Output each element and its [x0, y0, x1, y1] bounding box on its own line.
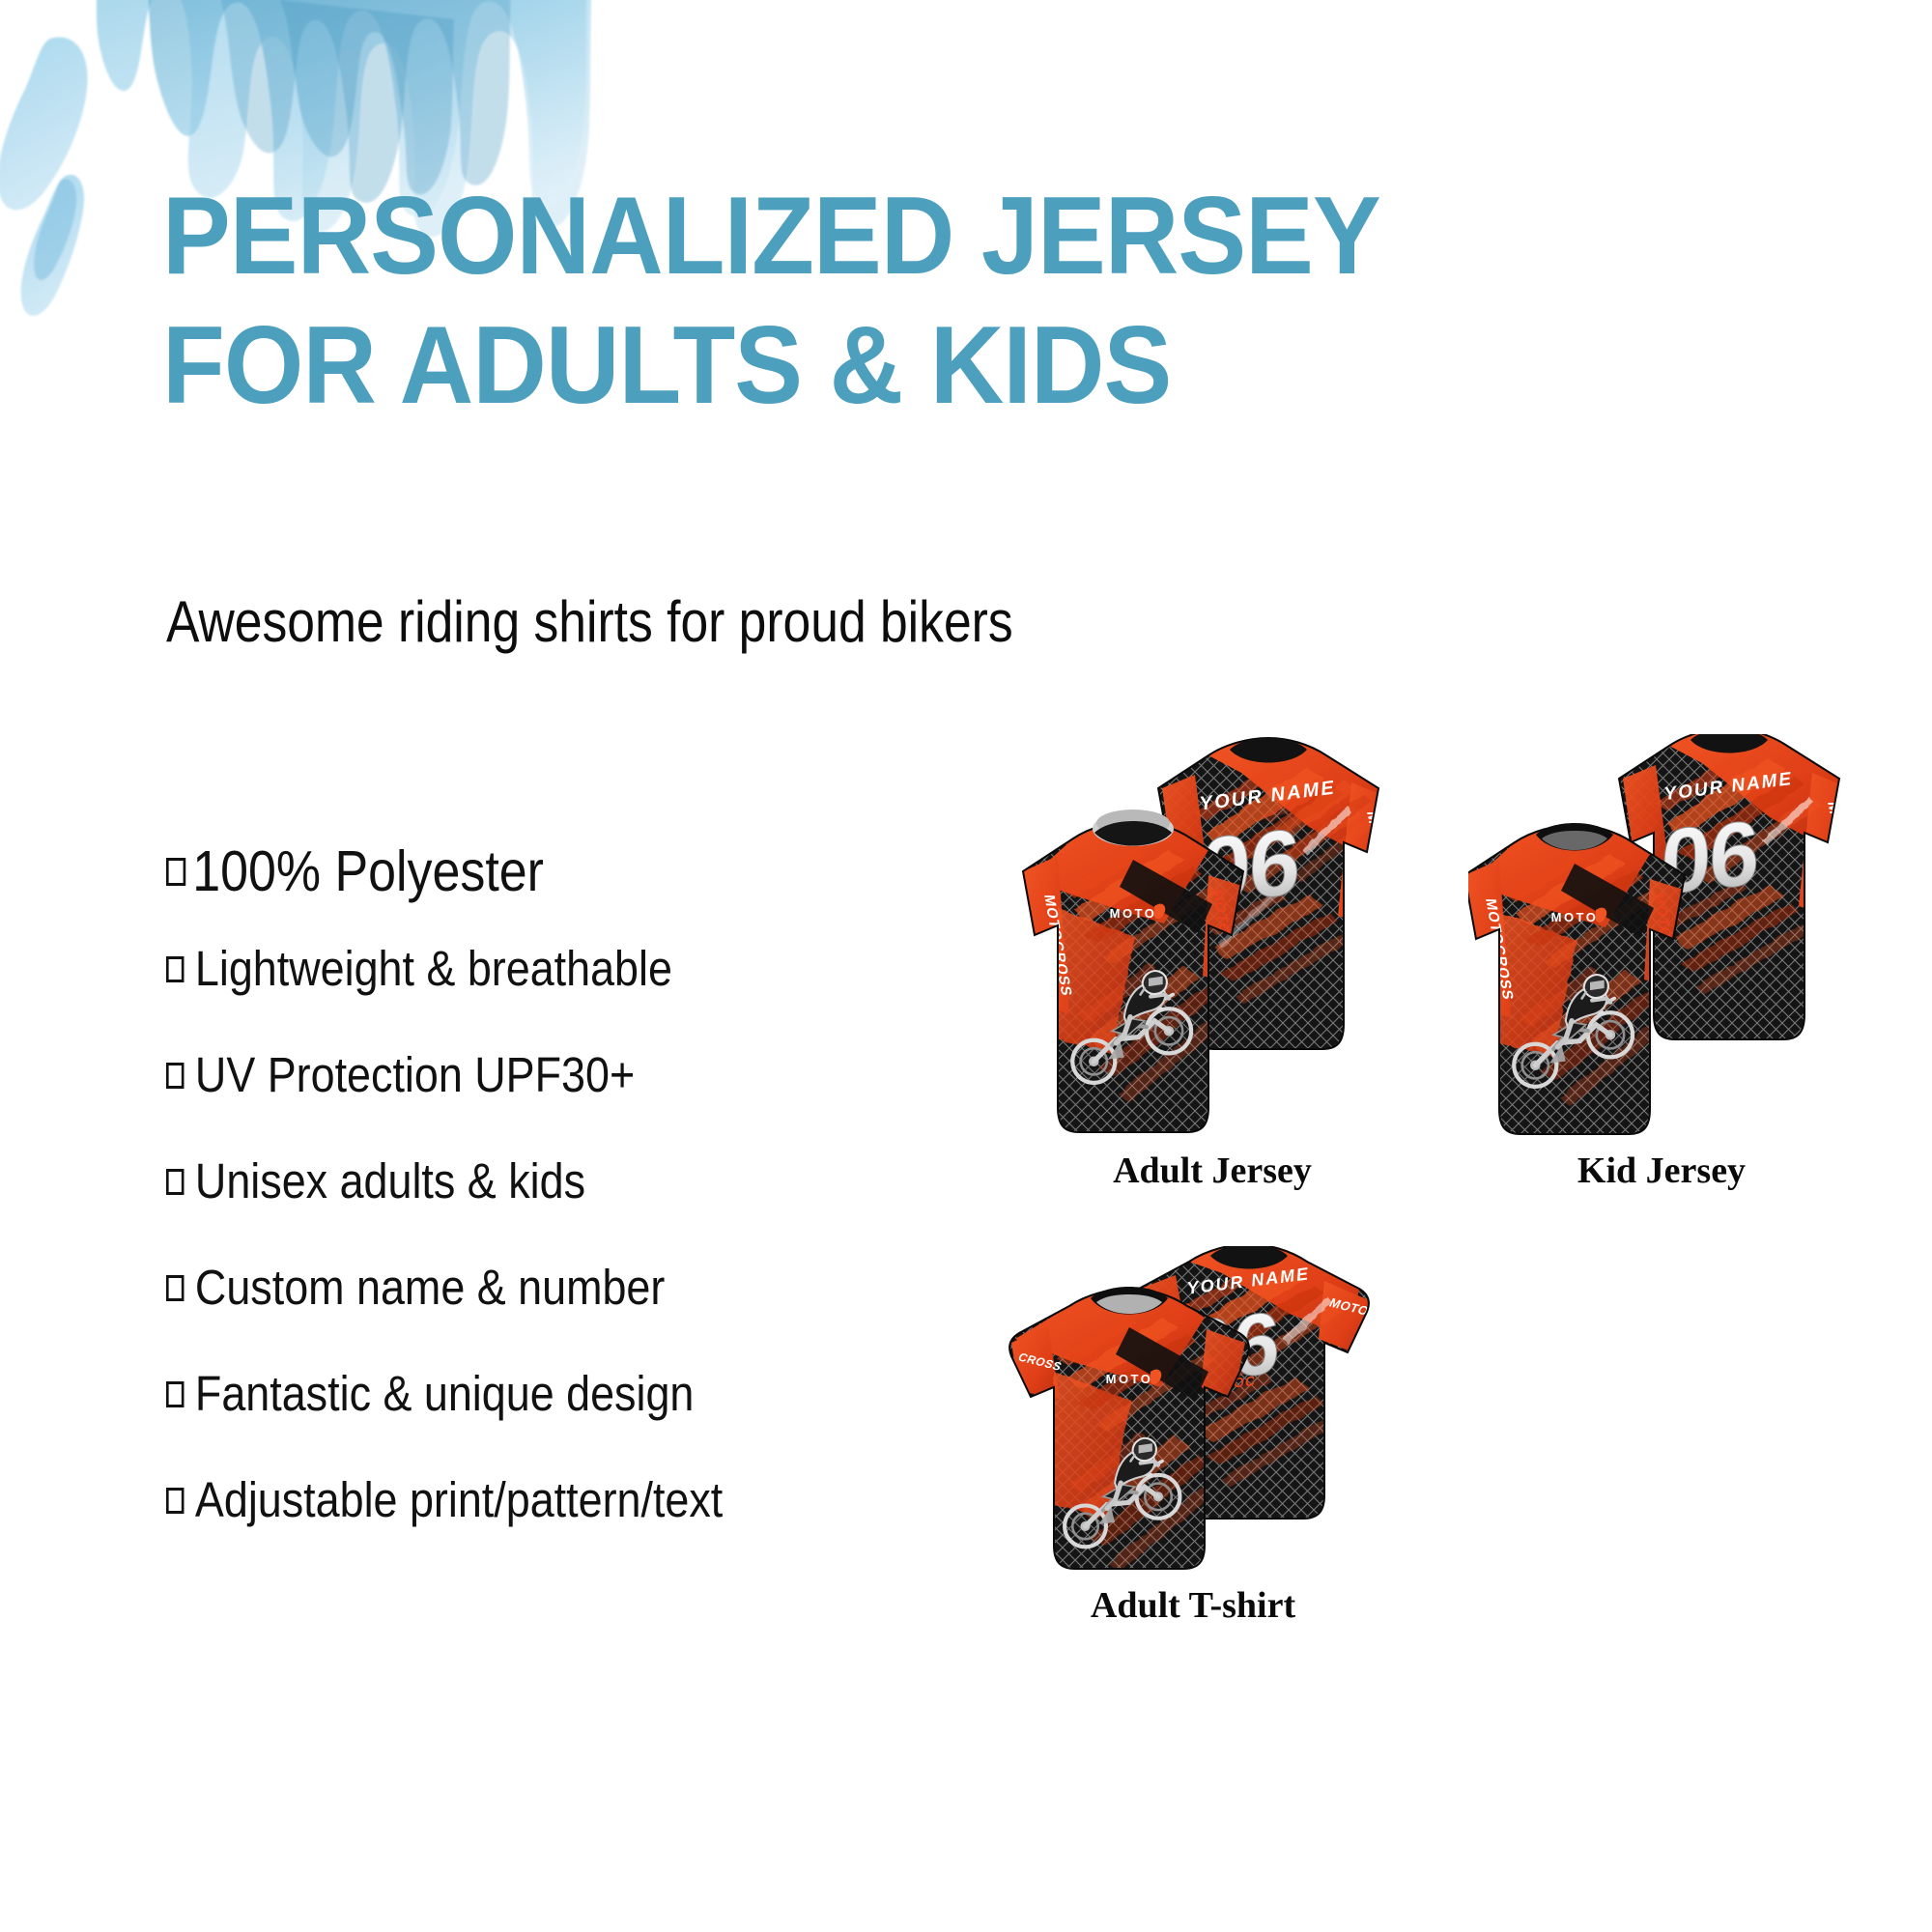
list-item: Unisex adults & kids — [166, 1128, 931, 1235]
list-item: Adjustable print/pattern/text — [166, 1447, 931, 1553]
subtitle: Awesome riding shirts for proud bikers — [166, 589, 1013, 655]
feature-label: Adjustable print/pattern/text — [195, 1473, 723, 1527]
product-caption: Adult Jersey — [1019, 1150, 1406, 1192]
chest-logo-text: MOTO — [1551, 910, 1599, 924]
list-item: UV Protection UPF30+ — [166, 1022, 931, 1128]
box-outline-icon — [166, 1169, 184, 1195]
chest-logo-text: MOTO — [1110, 906, 1157, 921]
list-item: Fantastic & unique design — [166, 1341, 931, 1447]
box-outline-icon — [166, 956, 184, 982]
sleeve-text: MOTOCROSS — [1824, 802, 1855, 909]
box-outline-icon — [166, 1275, 184, 1301]
heading-line-1: PERSONALIZED JERSEY — [162, 184, 1600, 290]
kid-jersey-image: YOUR NAME 06 MOTOCROSS MOTO — [1468, 734, 1855, 1140]
list-item: Lightweight & breathable — [166, 916, 931, 1022]
adult-jersey-image: YOUR NAME 06 MOTOCROSS — [1019, 734, 1406, 1140]
list-item: Custom name & number — [166, 1235, 931, 1341]
feature-label: Custom name & number — [195, 1261, 665, 1315]
product-adult-jersey: YOUR NAME 06 MOTOCROSS — [1019, 734, 1406, 1188]
box-outline-icon — [166, 1488, 184, 1514]
box-outline-icon — [166, 1063, 184, 1089]
product-caption: Kid Jersey — [1468, 1150, 1855, 1192]
chest-logo-text: MOTO — [1106, 1372, 1153, 1386]
list-item: 100% Polyester — [166, 827, 931, 916]
feature-label: Lightweight & breathable — [195, 942, 672, 996]
feature-label: 100% Polyester — [192, 841, 544, 901]
box-outline-icon — [166, 1381, 184, 1407]
sleeve-text: MOTOCROSS — [1363, 811, 1404, 919]
feature-list: 100% Polyester Lightweight & breathable … — [166, 827, 1036, 1553]
box-outline-icon — [166, 858, 185, 886]
feature-label: Unisex adults & kids — [195, 1154, 585, 1208]
page-title: PERSONALIZED JERSEY FOR ADULTS & KIDS — [162, 184, 1708, 419]
product-kid-jersey: YOUR NAME 06 MOTOCROSS MOTO — [1468, 734, 1855, 1188]
feature-label: Fantastic & unique design — [195, 1367, 694, 1421]
product-caption: Adult T-shirt — [1000, 1584, 1386, 1627]
feature-label: UV Protection UPF30+ — [195, 1048, 635, 1102]
heading-line-2: FOR ADULTS & KIDS — [162, 313, 1600, 419]
adult-tshirt-image: YOUR NAME 06 MOTOC ROSS MOTOC — [1000, 1246, 1386, 1594]
product-adult-tshirt: YOUR NAME 06 MOTOC ROSS MOTOC — [1000, 1246, 1386, 1633]
